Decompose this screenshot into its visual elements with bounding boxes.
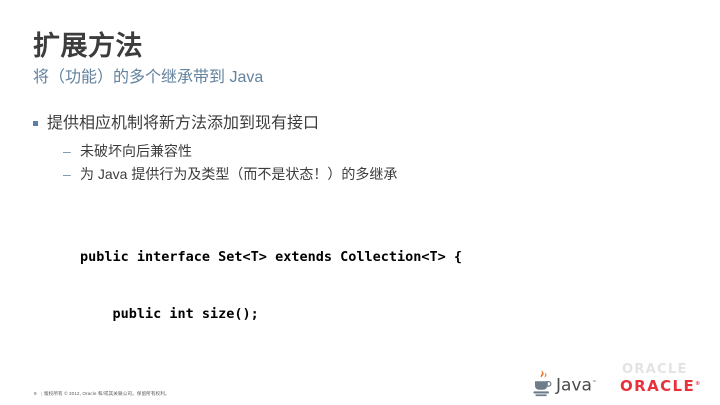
copyright-text: 版权所有 © 2012, Oracle 和/或其关联公司。保留所有权利。	[44, 391, 170, 396]
title-block: 扩展方法 将（功能）的多个继承带到 Java	[33, 30, 673, 89]
bullet-item-level2: – 未破坏向后兼容性	[63, 140, 683, 163]
footer-copyright: 9|版权所有 © 2012, Oracle 和/或其关联公司。保留所有权利。	[34, 390, 170, 397]
oracle-logo: ORACLE®	[620, 376, 700, 394]
oracle-watermark: ORACLE	[622, 363, 688, 377]
code-line: public int size();	[80, 305, 486, 324]
oracle-wordmark: ORACLE	[620, 377, 695, 395]
code-line: public interface Set<T> extends Collecti…	[80, 248, 486, 267]
page-subtitle: 将（功能）的多个继承带到 Java	[33, 67, 673, 89]
dash-bullet-icon: –	[63, 140, 80, 163]
page-title: 扩展方法	[33, 30, 673, 62]
footer-separator: |	[41, 391, 42, 396]
java-cup-icon	[530, 370, 554, 397]
java-wordmark: Java™	[556, 375, 597, 395]
code-sample: public interface Set<T> extends Collecti…	[80, 210, 486, 405]
java-trademark: ™	[592, 380, 597, 386]
bullet-level2-label: 未破坏向后兼容性	[80, 140, 683, 163]
bullet-list: 提供相应机制将新方法添加到现有接口 – 未破坏向后兼容性 – 为 Java 提供…	[33, 112, 683, 186]
java-logo: Java™	[530, 369, 597, 397]
bullet-item-level2: – 为 Java 提供行为及类型（而不是状态！）的多继承	[63, 163, 683, 186]
square-bullet-icon	[33, 112, 47, 126]
slide-number: 9	[34, 391, 37, 396]
bullet-level1-label: 提供相应机制将新方法添加到现有接口	[47, 112, 683, 136]
dash-bullet-icon: –	[63, 163, 80, 186]
bullet-level2-label: 为 Java 提供行为及类型（而不是状态！）的多继承	[80, 163, 683, 186]
slide-canvas: 扩展方法 将（功能）的多个继承带到 Java 提供相应机制将新方法添加到现有接口…	[0, 0, 720, 405]
oracle-registered-mark: ®	[695, 381, 700, 387]
code-line-blank	[80, 362, 486, 381]
bullet-item-level1: 提供相应机制将新方法添加到现有接口	[33, 112, 683, 136]
